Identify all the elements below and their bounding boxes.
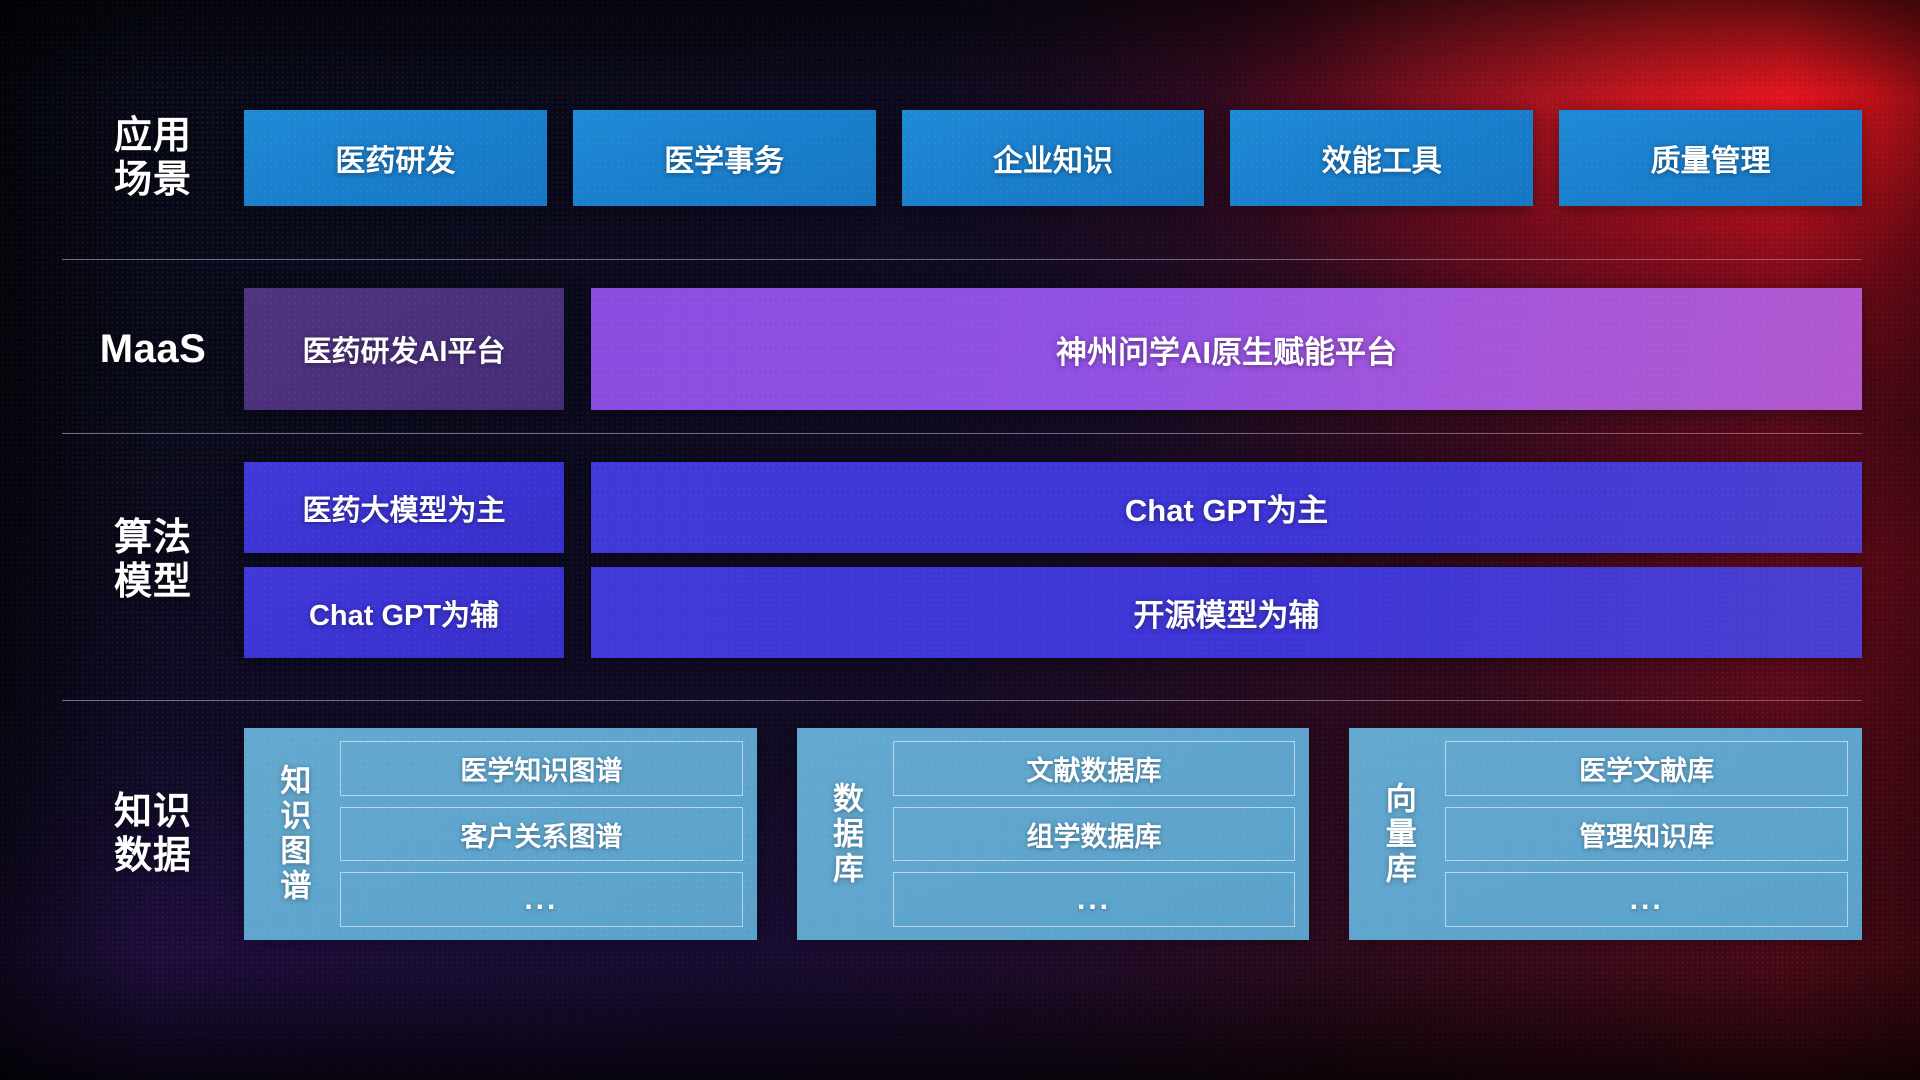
architecture-diagram: 应用 场景 医药研发 医学事务 企业知识 效能工具 质量管理 MaaS 医药研发…	[0, 0, 1920, 1080]
tier-label-maas: MaaS	[62, 326, 244, 372]
knowledge-group-label: 数据库	[797, 741, 893, 927]
algorithm-secondary-wide-box[interactable]: 开源模型为辅	[591, 567, 1862, 658]
tier-divider	[62, 259, 1862, 260]
tier-maas: MaaS 医药研发AI平台 神州问学AI原生赋能平台	[62, 288, 1862, 410]
application-scenario-cells: 医药研发 医学事务 企业知识 效能工具 质量管理	[244, 110, 1862, 206]
knowledge-group-vector[interactable]: 向量库 医学文献库 管理知识库 ...	[1349, 728, 1862, 940]
app-scenario-box[interactable]: 企业知识	[902, 110, 1205, 206]
tier-algorithm-models: 算法 模型 医药大模型为主 Chat GPT为主 Chat GPT为辅 开源模型…	[62, 462, 1862, 658]
algorithm-primary-wide-box[interactable]: Chat GPT为主	[591, 462, 1862, 553]
knowledge-item-more[interactable]: ...	[1445, 872, 1848, 927]
maas-platform-box-shenzhou[interactable]: 神州问学AI原生赋能平台	[591, 288, 1862, 410]
knowledge-item-more[interactable]: ...	[893, 872, 1296, 927]
knowledge-item[interactable]: 医学知识图谱	[340, 741, 743, 796]
tier-application-scenarios: 应用 场景 医药研发 医学事务 企业知识 效能工具 质量管理	[62, 110, 1862, 206]
knowledge-item[interactable]: 文献数据库	[893, 741, 1296, 796]
maas-platform-box-pharma[interactable]: 医药研发AI平台	[244, 288, 564, 410]
knowledge-group-database[interactable]: 数据库 文献数据库 组学数据库 ...	[797, 728, 1310, 940]
algorithm-secondary-box[interactable]: Chat GPT为辅	[244, 567, 564, 658]
algorithm-model-row: Chat GPT为辅 开源模型为辅	[244, 567, 1862, 658]
app-scenario-box[interactable]: 医学事务	[573, 110, 876, 206]
app-scenario-box[interactable]: 效能工具	[1230, 110, 1533, 206]
knowledge-item[interactable]: 客户关系图谱	[340, 807, 743, 862]
tier-label-knowledge-data: 知识 数据	[62, 790, 244, 878]
algorithm-primary-box[interactable]: 医药大模型为主	[244, 462, 564, 553]
tier-knowledge-data: 知识 数据 知识图谱 医学知识图谱 客户关系图谱 ... 数据库 文献数据库 组…	[62, 728, 1862, 940]
knowledge-group-label: 向量库	[1349, 741, 1445, 927]
algorithm-model-grid: 医药大模型为主 Chat GPT为主 Chat GPT为辅 开源模型为辅	[244, 462, 1862, 658]
knowledge-groups: 知识图谱 医学知识图谱 客户关系图谱 ... 数据库 文献数据库 组学数据库 .…	[244, 728, 1862, 940]
knowledge-item-list: 文献数据库 组学数据库 ...	[893, 741, 1296, 927]
knowledge-group-graph[interactable]: 知识图谱 医学知识图谱 客户关系图谱 ...	[244, 728, 757, 940]
tier-divider	[62, 433, 1862, 434]
app-scenario-box[interactable]: 医药研发	[244, 110, 547, 206]
knowledge-item-list: 医学文献库 管理知识库 ...	[1445, 741, 1848, 927]
knowledge-item[interactable]: 组学数据库	[893, 807, 1296, 862]
knowledge-item[interactable]: 医学文献库	[1445, 741, 1848, 796]
tier-label-application-scenarios: 应用 场景	[62, 114, 244, 202]
algorithm-model-row: 医药大模型为主 Chat GPT为主	[244, 462, 1862, 553]
maas-cells: 医药研发AI平台 神州问学AI原生赋能平台	[244, 288, 1862, 410]
tier-divider	[62, 700, 1862, 701]
knowledge-item[interactable]: 管理知识库	[1445, 807, 1848, 862]
app-scenario-box[interactable]: 质量管理	[1559, 110, 1862, 206]
knowledge-item-more[interactable]: ...	[340, 872, 743, 927]
knowledge-group-label: 知识图谱	[244, 741, 340, 927]
knowledge-item-list: 医学知识图谱 客户关系图谱 ...	[340, 741, 743, 927]
tier-label-algorithm-models: 算法 模型	[62, 516, 244, 604]
